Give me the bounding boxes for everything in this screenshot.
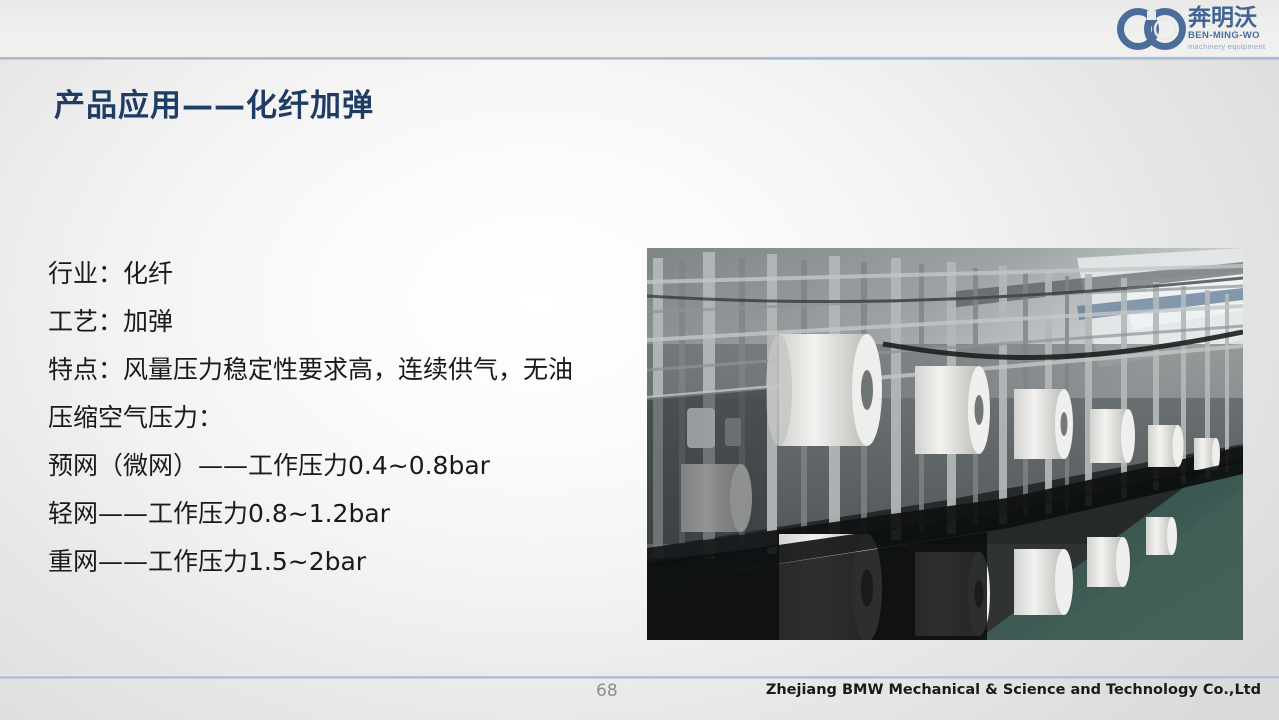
header-divider — [0, 57, 1279, 60]
company-logo: 奔明沃 BEN-MING-WO machinery equipment — [1116, 2, 1276, 58]
content-line-pressure-header: 压缩空气压力： — [48, 394, 628, 442]
content-line-features: 特点：风量压力稳定性要求高，连续供气，无油 — [48, 346, 628, 394]
factory-photo — [647, 248, 1243, 640]
bo-monogram-rings-icon — [1116, 8, 1190, 50]
content-block: 行业：化纤 工艺：加弹 特点：风量压力稳定性要求高，连续供气，无油 压缩空气压力… — [48, 250, 628, 586]
content-line-lightnetwork: 轻网——工作压力0.8~1.2bar — [48, 490, 628, 538]
content-line-process: 工艺：加弹 — [48, 298, 628, 346]
content-line-prenetwork: 预网（微网）——工作压力0.4~0.8bar — [48, 442, 628, 490]
logo-chinese-name: 奔明沃 — [1188, 6, 1279, 30]
page-number: 68 — [596, 681, 618, 701]
slide: 奔明沃 BEN-MING-WO machinery equipment 产品应用… — [0, 0, 1279, 720]
footer-divider — [0, 676, 1279, 679]
content-line-industry: 行业：化纤 — [48, 250, 628, 298]
logo-english-name: BEN-MING-WO — [1188, 30, 1279, 42]
logo-wordmark: 奔明沃 BEN-MING-WO machinery equipment — [1188, 6, 1279, 52]
footer-company-name: Zhejiang BMW Mechanical & Science and Te… — [766, 682, 1261, 698]
page-title: 产品应用——化纤加弹 — [54, 80, 374, 125]
header-band — [0, 0, 1279, 58]
logo-tagline: machinery equipment — [1188, 42, 1279, 52]
content-line-heavynetwork: 重网——工作压力1.5~2bar — [48, 538, 628, 586]
